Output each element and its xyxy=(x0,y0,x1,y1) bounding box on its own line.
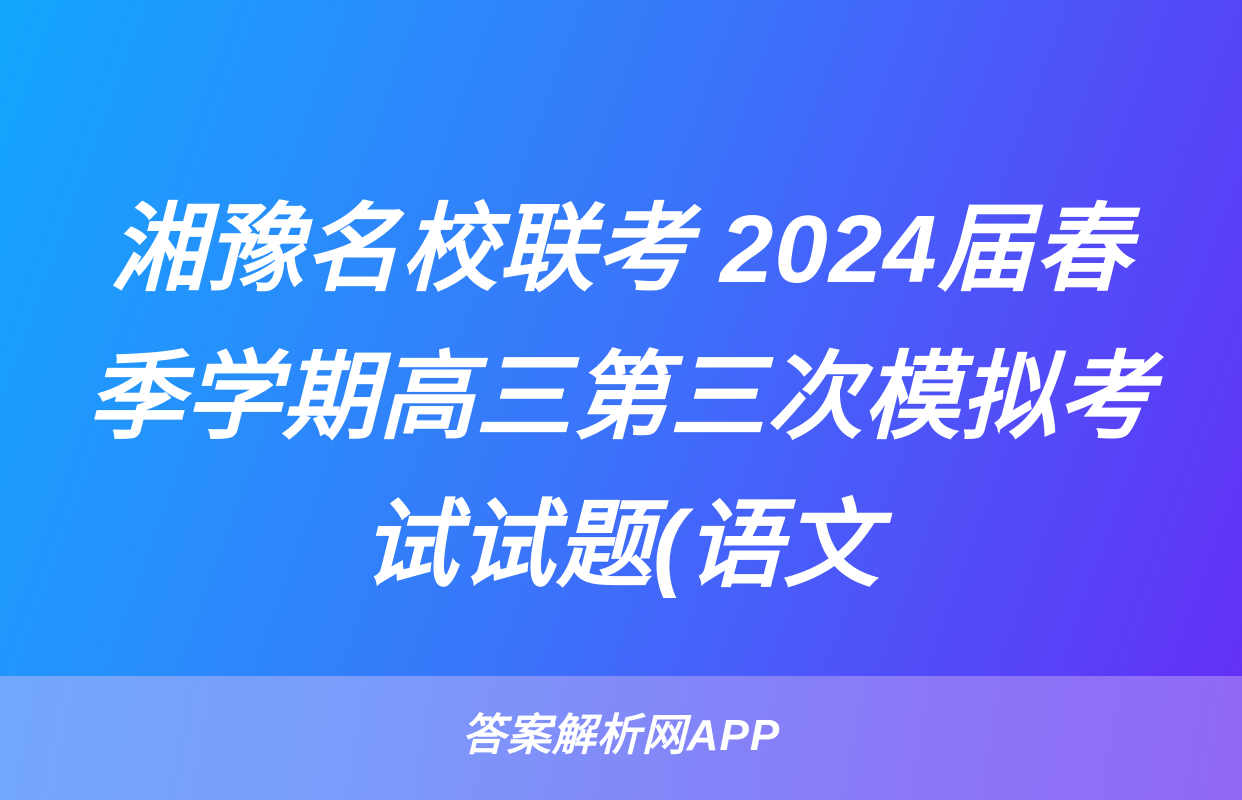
headline-line-2: 季学期高三第三次模拟考 xyxy=(0,324,1242,472)
headline-line-3: 试试题(语文 xyxy=(0,472,1242,620)
poster-canvas: 湘豫名校联考 2024届春 季学期高三第三次模拟考 试试题(语文 答案解析网AP… xyxy=(0,0,1242,800)
app-watermark: 答案解析网APP xyxy=(0,708,1242,764)
page-title: 湘豫名校联考 2024届春 季学期高三第三次模拟考 试试题(语文 xyxy=(0,176,1242,620)
headline-line-1: 湘豫名校联考 2024届春 xyxy=(0,176,1242,324)
